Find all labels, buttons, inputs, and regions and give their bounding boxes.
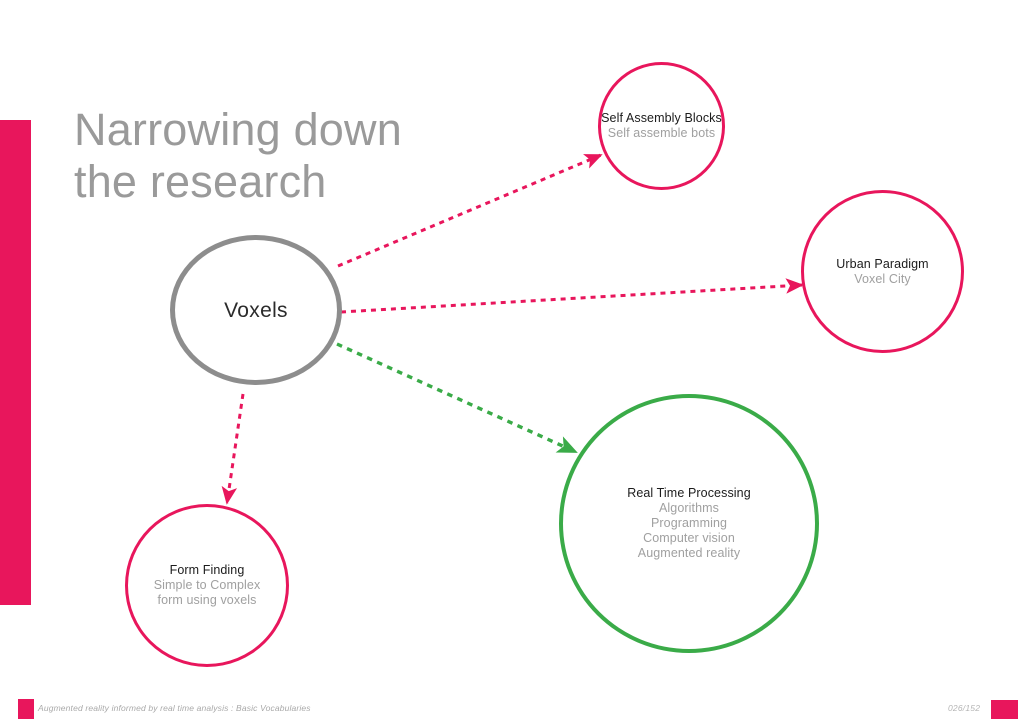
node-real-time-processing[interactable]: Real Time Processing Algorithms Programm… (559, 394, 819, 653)
page-title: Narrowing down the research (74, 104, 544, 208)
node-urban-paradigm[interactable]: Urban Paradigm Voxel City (801, 190, 964, 353)
footer-accent-swatch-right (991, 700, 1018, 719)
node-voxels-title: Voxels (224, 303, 288, 318)
node-real-time-processing-subline-4: Augmented reality (638, 546, 740, 561)
node-form-finding-subline-1: Simple to Complex (154, 578, 261, 593)
node-real-time-processing-subline-2: Programming (651, 516, 727, 531)
node-form-finding-title: Form Finding (170, 563, 245, 578)
node-real-time-processing-title: Real Time Processing (627, 486, 751, 501)
edge-voxels-to-real-time-processing (337, 344, 576, 452)
edge-voxels-to-form-finding (227, 394, 243, 503)
node-real-time-processing-subline-1: Algorithms (659, 501, 719, 516)
node-self-assembly-subline-1: Self assemble bots (608, 126, 715, 141)
footer-caption: Augmented reality informed by real time … (38, 703, 311, 713)
node-form-finding[interactable]: Form Finding Simple to Complex form usin… (125, 504, 289, 667)
footer-page-number: 026/152 (948, 703, 980, 713)
node-real-time-processing-subline-3: Computer vision (643, 531, 735, 546)
node-self-assembly[interactable]: Self Assembly Blocks Self assemble bots (598, 62, 725, 190)
node-urban-paradigm-title: Urban Paradigm (836, 257, 928, 272)
node-voxels[interactable]: Voxels (170, 235, 342, 385)
footer-accent-swatch-left (18, 699, 34, 719)
slide-canvas: Narrowing down the research Voxels Self … (0, 0, 1024, 724)
left-accent-bar (0, 120, 31, 605)
edge-voxels-to-urban-paradigm (341, 285, 802, 312)
node-self-assembly-title: Self Assembly Blocks (601, 111, 722, 126)
node-form-finding-subline-2: form using voxels (158, 593, 257, 608)
node-urban-paradigm-subline-1: Voxel City (854, 272, 911, 287)
